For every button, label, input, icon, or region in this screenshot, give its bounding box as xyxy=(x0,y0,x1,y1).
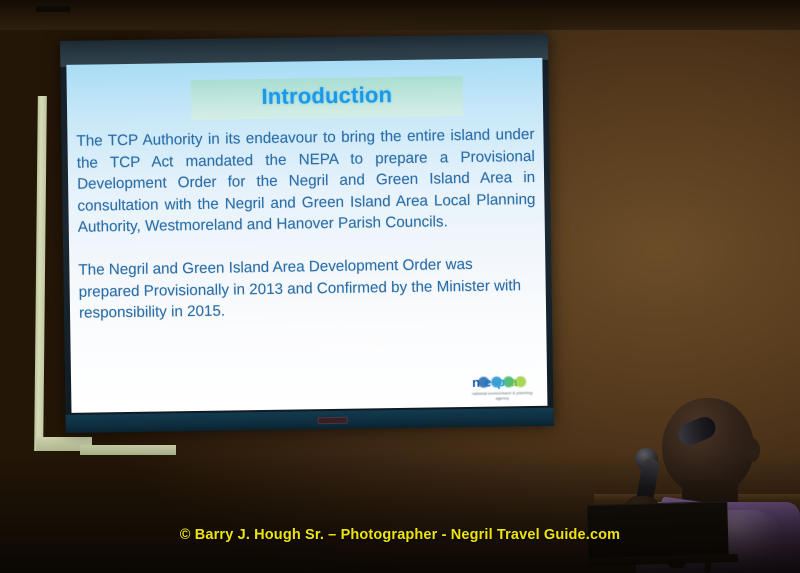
nepa-logo-letter-4: a xyxy=(510,375,517,388)
projected-image-area: Introduction The TCP Authority in its en… xyxy=(60,34,554,433)
nepa-logo-tagline: national environment & planning agency xyxy=(466,390,538,401)
photographer-watermark: © Barry J. Hough Sr. – Photographer - Ne… xyxy=(0,527,800,543)
slide-body: The TCP Authority in its endeavour to br… xyxy=(76,124,537,325)
room-background: Introduction The TCP Authority in its en… xyxy=(0,0,800,573)
presentation-slide: Introduction The TCP Authority in its en… xyxy=(66,58,547,413)
slide-paragraph-2: The Negril and Green Island Area Develop… xyxy=(78,253,537,325)
nepa-logo-letter-3: p xyxy=(497,375,505,388)
nepa-logo-letter-2: e xyxy=(484,376,491,389)
projection-screen: Introduction The TCP Authority in its en… xyxy=(36,41,548,429)
nepa-logo: nepa national environment & planning age… xyxy=(466,375,538,400)
foreground-shadow xyxy=(0,453,800,573)
ceiling-vent xyxy=(36,6,70,12)
nepa-logo-letter-1: n xyxy=(472,376,480,389)
screen-support-post xyxy=(34,96,47,451)
slide-paragraph-1: The TCP Authority in its endeavour to br… xyxy=(76,124,536,239)
nepa-wordmark: nepa xyxy=(472,375,534,390)
slide-title: Introduction xyxy=(191,81,463,111)
watermark-text: © Barry J. Hough Sr. – Photographer - Ne… xyxy=(180,527,620,543)
projection-bottom-marker xyxy=(318,417,348,424)
ceiling-band xyxy=(0,0,800,30)
